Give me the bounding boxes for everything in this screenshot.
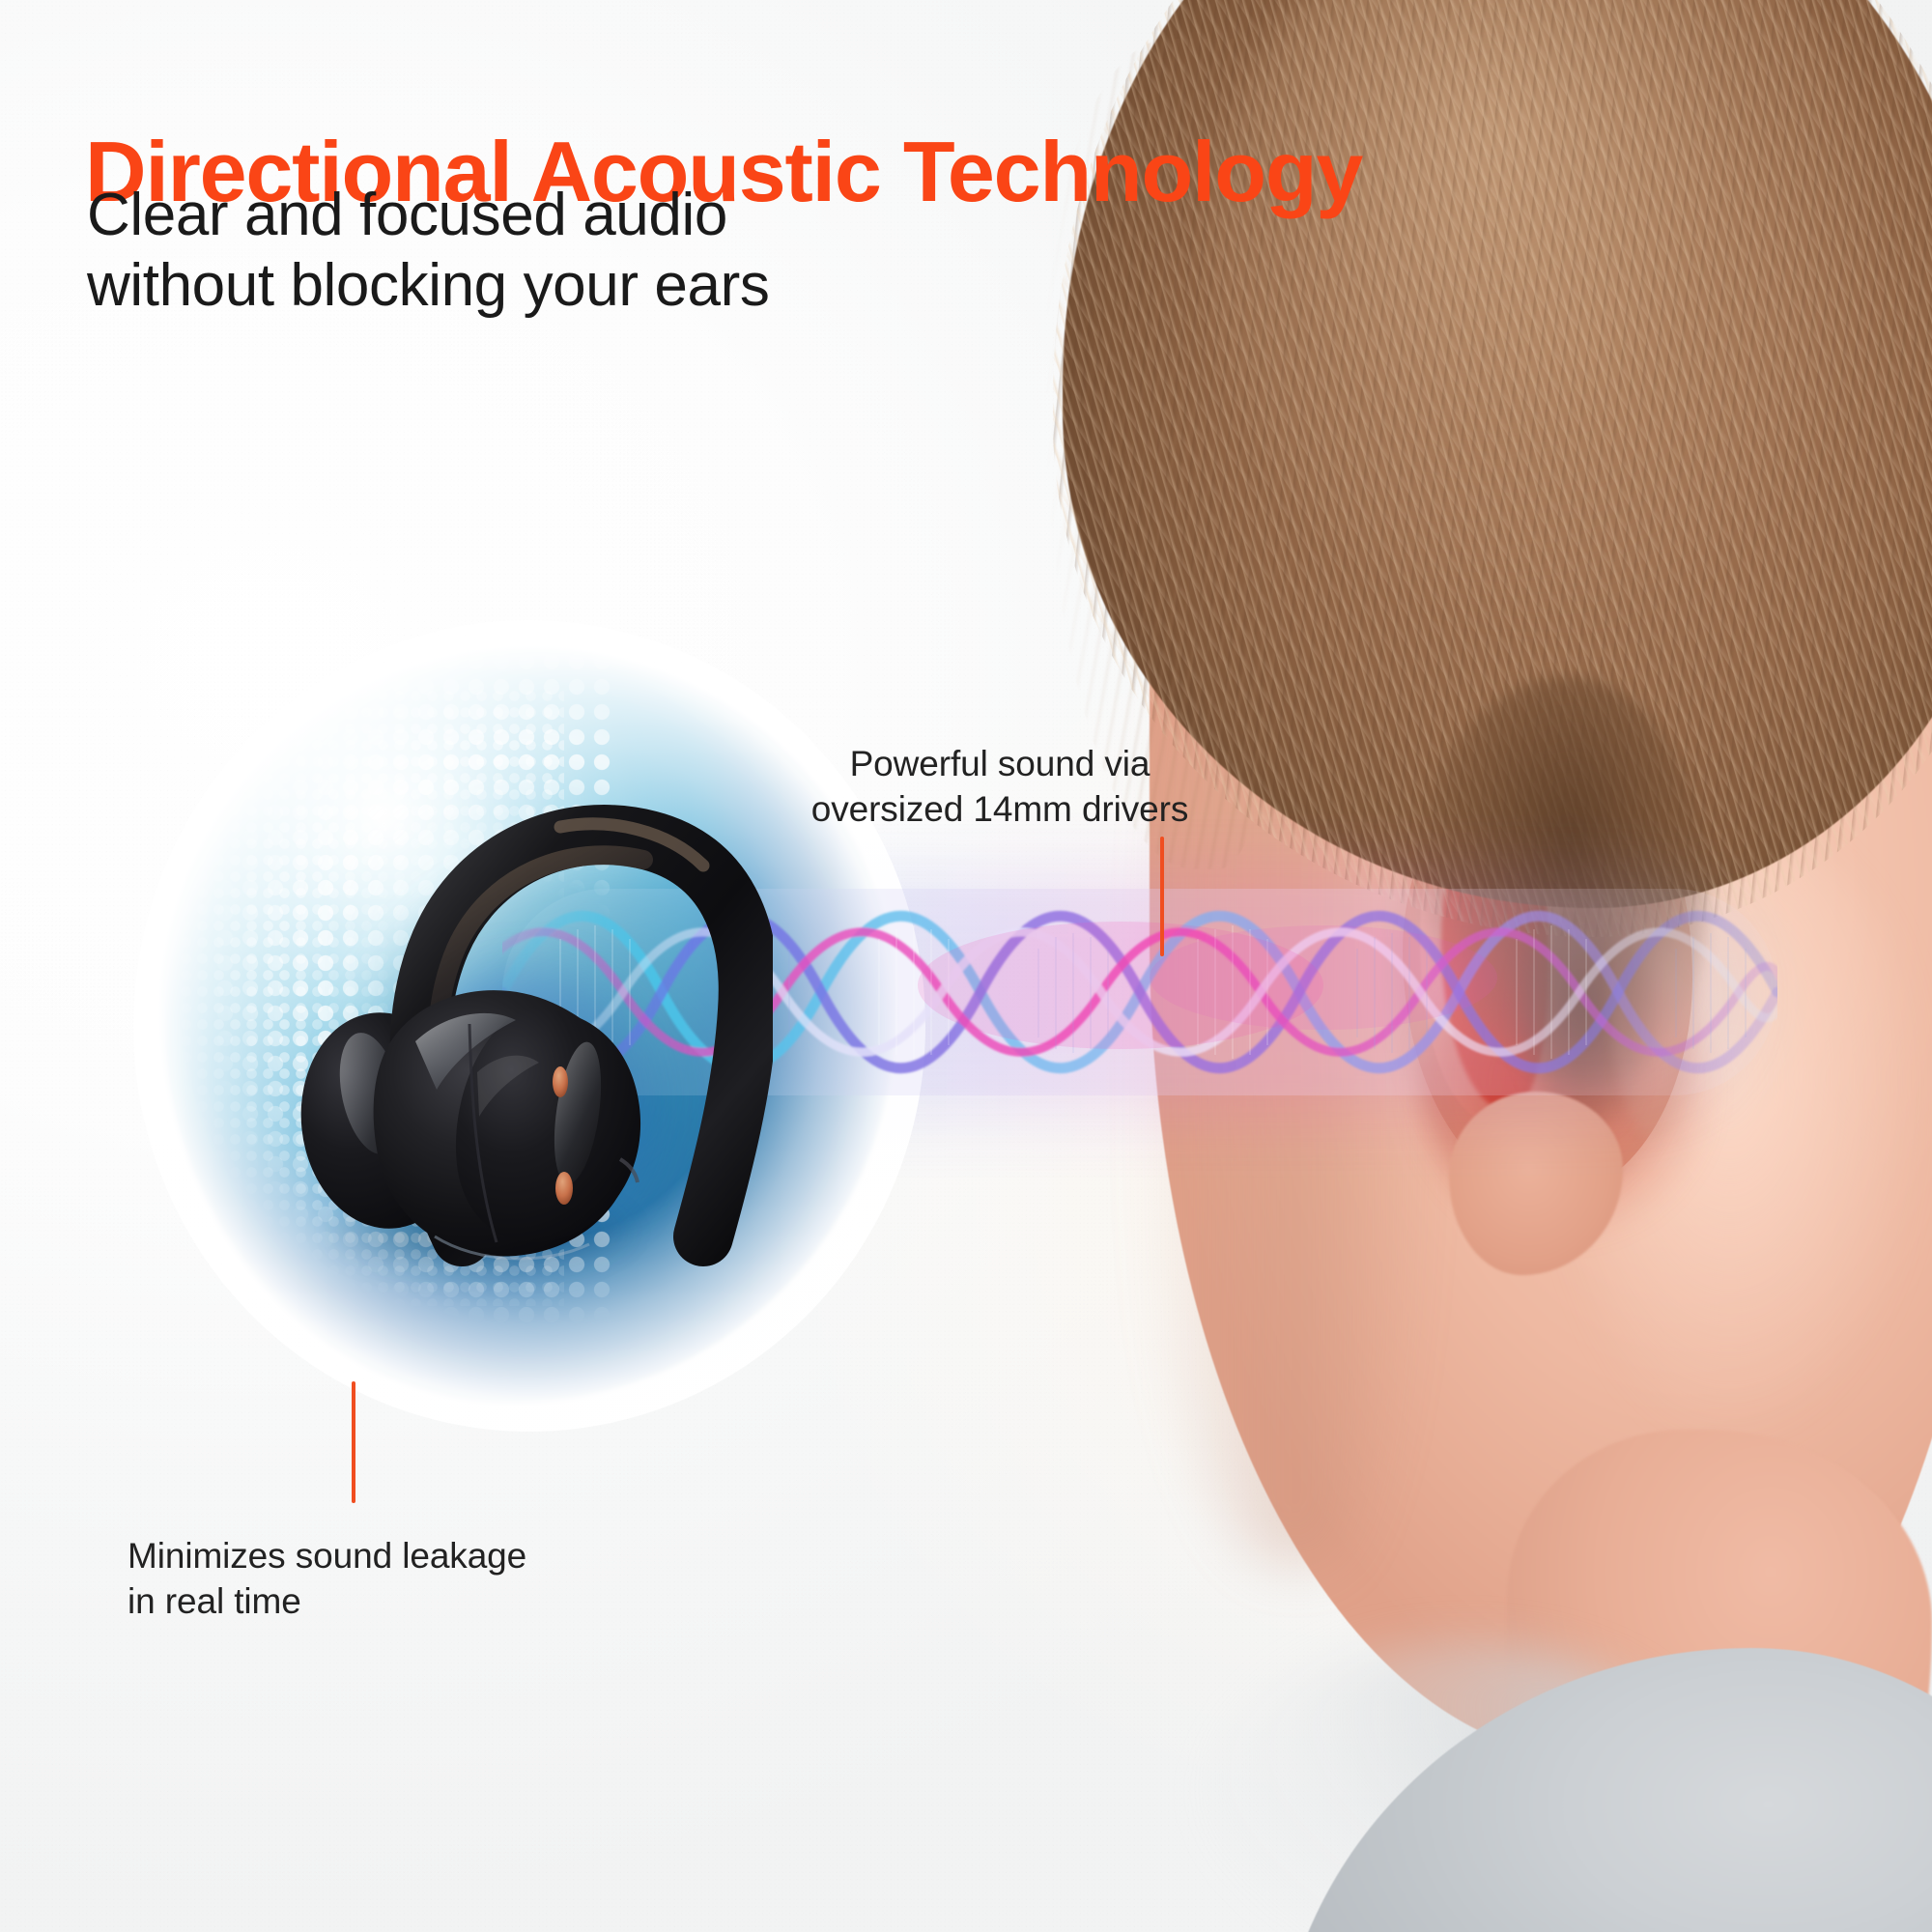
callout-powerful-sound-line-2: oversized 14mm drivers xyxy=(720,787,1280,833)
callout-minimizes-leakage-line-2: in real time xyxy=(128,1579,726,1625)
callout-powerful-sound: Powerful sound via oversized 14mm driver… xyxy=(720,742,1280,832)
subheadline: Clear and focused audio without blocking… xyxy=(87,180,769,321)
subheadline-line-2: without blocking your ears xyxy=(87,250,769,321)
callout-minimizes-leakage: Minimizes sound leakage in real time xyxy=(128,1534,726,1624)
callout-powerful-sound-leader-line xyxy=(1160,837,1164,956)
marketing-hero-canvas: Directional Acoustic Technology Clear an… xyxy=(0,0,1932,1932)
earbud-product xyxy=(270,734,773,1275)
callout-powerful-sound-line-1: Powerful sound via xyxy=(720,742,1280,787)
callout-minimizes-leakage-leader-line xyxy=(352,1381,355,1503)
callout-minimizes-leakage-line-1: Minimizes sound leakage xyxy=(128,1534,726,1579)
subheadline-line-1: Clear and focused audio xyxy=(87,180,769,250)
